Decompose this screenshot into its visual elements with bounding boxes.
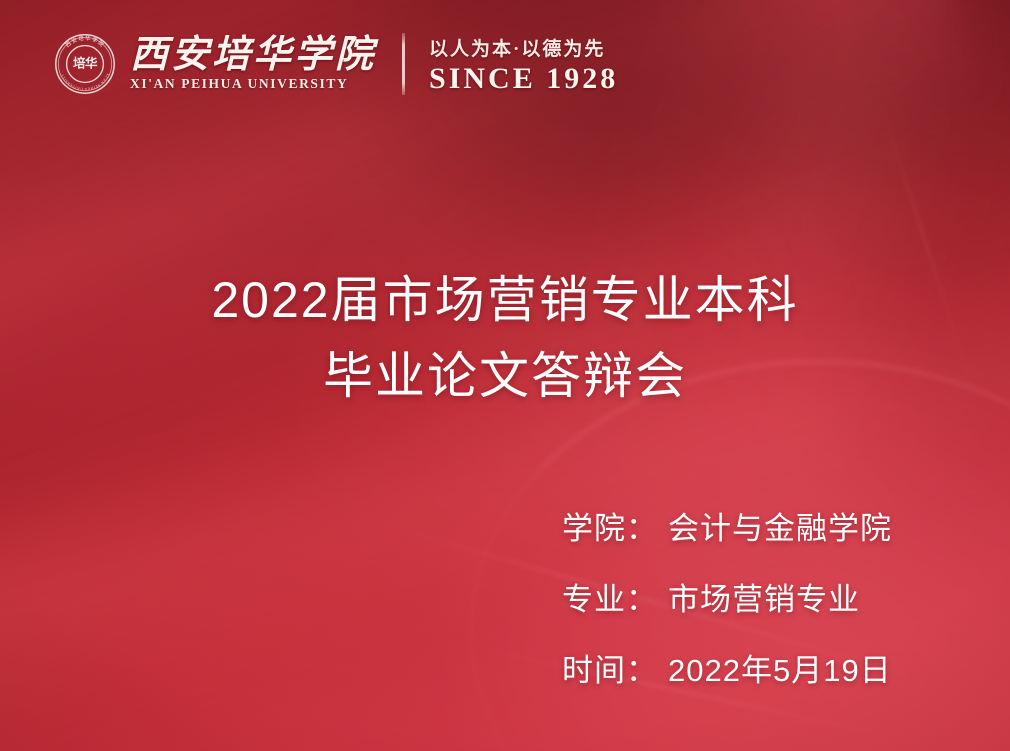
presentation-title-slide: 西安培华学院 XI'AN PEIHUA UNIVERSITY 培华 西安培华学院… [0,0,1010,751]
info-label-college: 学院： [562,503,658,548]
university-motto: 以人为本·以德为先 [429,34,618,61]
university-name-block: 西安培华学院 XI'AN PEIHUA UNIVERSITY [130,36,376,93]
slide-headline: 2022届市场营销专业本科 毕业论文答辩会 [0,262,1010,414]
logo-vertical-divider-icon [402,33,405,95]
university-seal-icon: 西安培华学院 XI'AN PEIHUA UNIVERSITY 培华 [54,33,116,95]
info-value-date: 2022年5月19日 [668,645,892,690]
university-motto-block: 以人为本·以德为先 SINCE 1928 [429,34,618,94]
university-name-cn: 西安培华学院 [130,36,376,75]
university-since: SINCE 1928 [429,64,618,94]
university-name-en: XI'AN PEIHUA UNIVERSITY [130,76,376,92]
info-value-college: 会计与金融学院 [668,503,892,548]
info-label-date: 时间： [562,645,658,690]
info-label-major: 专业： [562,574,658,619]
info-value-major: 市场营销专业 [668,574,860,619]
info-row-college: 学院： 会计与金融学院 [562,503,892,548]
info-row-date: 时间： 2022年5月19日 [562,645,892,690]
info-row-major: 专业： 市场营销专业 [562,574,892,619]
svg-text:西安培华学院: 西安培华学院 [64,34,106,49]
headline-line-1: 2022届市场营销专业本科 [0,262,1010,338]
headline-line-2: 毕业论文答辩会 [0,338,1010,414]
university-logo: 西安培华学院 XI'AN PEIHUA UNIVERSITY 培华 西安培华学院… [54,33,618,95]
svg-text:培华: 培华 [73,56,98,71]
slide-info-block: 学院： 会计与金融学院 专业： 市场营销专业 时间： 2022年5月19日 [562,503,892,690]
